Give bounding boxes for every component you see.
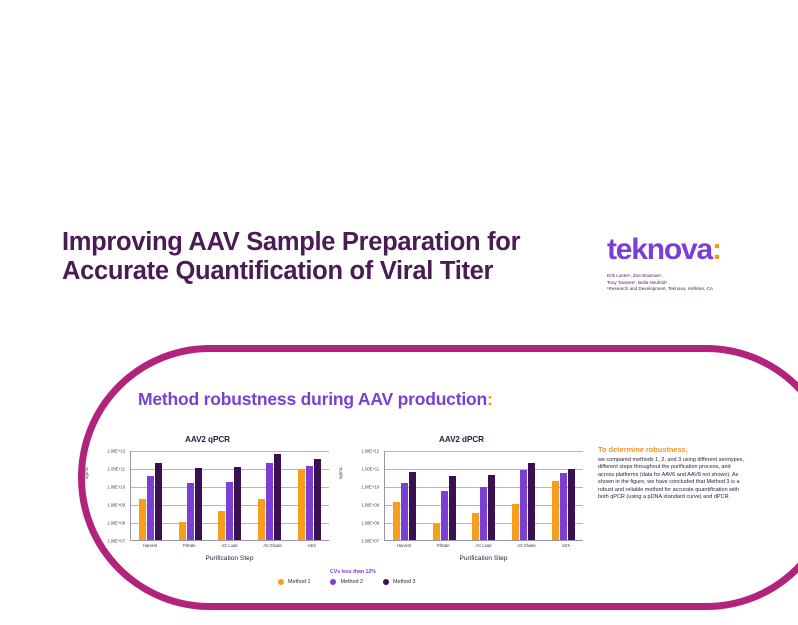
y-axis-ticks: 1.00E+07 1.00E+08 1.00E+09 1.00E+10 1.00… [346, 451, 382, 541]
x-axis-ticks: Harvest Filtrate AC Load AC Eluate AEX [130, 543, 329, 548]
author-list: Erik Lustre¹, Zoe Bowman¹, Tony Tavares¹… [607, 273, 798, 293]
bar [552, 481, 559, 540]
x-tick: AC Load [476, 543, 492, 548]
legend-item-method-1: Method 1 [278, 579, 310, 585]
brand-block: teknova: Erik Lustre¹, Zoe Bowman¹, Tony… [607, 234, 798, 293]
bar [258, 499, 265, 540]
y-tick: 1.00E+10 [361, 485, 379, 490]
legend-swatch-icon [278, 579, 284, 585]
bar [314, 459, 321, 540]
y-tick: 1.00E+07 [107, 539, 125, 544]
chart-title: AAV2 dPCR [340, 435, 583, 444]
y-axis-label: vg/mL [338, 466, 343, 479]
bar-group [393, 451, 416, 540]
bar-group [218, 451, 241, 540]
y-tick: 1.00E+07 [361, 539, 379, 544]
legend-swatch-icon [383, 579, 389, 585]
bar-group [552, 451, 575, 540]
bar [226, 482, 233, 540]
bar [274, 454, 281, 540]
affiliation-line: ¹Research and Development, Teknova, Holl… [607, 286, 798, 293]
bar [306, 466, 313, 540]
bar [441, 491, 448, 540]
bar [472, 513, 479, 540]
y-axis-ticks: 1.00E+07 1.00E+08 1.00E+09 1.00E+10 1.00… [92, 451, 128, 541]
y-tick: 1.00E+11 [108, 467, 125, 472]
x-tick: Filtrate [183, 543, 196, 548]
legend-item-method-3: Method 3 [383, 579, 415, 585]
bar [409, 472, 416, 540]
robustness-heading: To determine robustness, [598, 445, 746, 454]
bar [512, 504, 519, 540]
bar [568, 469, 575, 540]
page-title-line2: Accurate Quantification of Viral Titer [62, 257, 592, 286]
x-axis-ticks: Harvest Filtrate AC Load AC Eluate AEX [384, 543, 583, 548]
bar [393, 502, 400, 540]
bar [449, 476, 456, 540]
bar [266, 463, 273, 540]
y-tick: 1.00E+11 [362, 467, 379, 472]
section-heading-colon-icon: : [487, 389, 493, 409]
bar [187, 483, 194, 540]
page-title: Improving AAV Sample Preparation for Acc… [62, 228, 592, 286]
plot-wrap: vg/mL 1.00E+07 1.00E+08 1.00E+09 1.00E+1… [86, 451, 329, 541]
section-heading: Method robustness during AAV production: [138, 389, 493, 410]
bar [195, 468, 202, 540]
bar-group [512, 451, 535, 540]
plot-area [384, 451, 583, 541]
legend-label: Method 2 [340, 579, 362, 585]
legend-label: Method 1 [288, 579, 310, 585]
bar-group [258, 451, 281, 540]
x-tick: AEX [562, 543, 570, 548]
plot-area [130, 451, 329, 541]
chart-legend: Method 1 Method 2 Method 3 [278, 579, 415, 585]
legend-item-method-2: Method 2 [330, 579, 362, 585]
chart-title: AAV2 qPCR [86, 435, 329, 444]
bar [520, 470, 527, 540]
bar [139, 499, 146, 540]
chart-aav2-qpcr: AAV2 qPCR vg/mL 1.00E+07 1.00E+08 1.00E+… [86, 435, 329, 565]
x-tick: AC Load [222, 543, 238, 548]
legend-swatch-icon [330, 579, 336, 585]
x-axis-label: Purification Step [384, 555, 583, 562]
y-tick: 1.00E+12 [107, 449, 125, 454]
y-tick: 1.00E+09 [107, 503, 125, 508]
x-tick: Harvest [397, 543, 411, 548]
y-tick: 1.00E+08 [361, 521, 379, 526]
cv-note: CVs less than 12% [330, 569, 376, 575]
bar-group [433, 451, 456, 540]
bar [528, 463, 535, 540]
x-tick: AC Eluate [263, 543, 281, 548]
author-line-2: Tony Tavares¹, Bella Neufeld¹ [607, 280, 798, 287]
bar-groups [385, 451, 583, 540]
y-tick: 1.00E+10 [107, 485, 125, 490]
bar-group [179, 451, 202, 540]
y-axis-label: vg/mL [84, 466, 89, 479]
legend-label: Method 3 [393, 579, 415, 585]
bar [488, 475, 495, 540]
bar [433, 524, 440, 540]
page-title-line1: Improving AAV Sample Preparation for [62, 228, 592, 257]
bar [234, 467, 241, 540]
x-tick: AEX [308, 543, 316, 548]
section-heading-text: Method robustness during AAV production [138, 389, 487, 409]
y-tick: 1.00E+09 [361, 503, 379, 508]
plot-wrap: vg/mL 1.00E+07 1.00E+08 1.00E+09 1.00E+1… [340, 451, 583, 541]
x-tick: AC Eluate [517, 543, 535, 548]
bar [298, 469, 305, 540]
bar [480, 487, 487, 540]
bar-groups [131, 451, 329, 540]
bar-group [298, 451, 321, 540]
bar [401, 483, 408, 540]
bar-group [139, 451, 162, 540]
bar [218, 511, 225, 540]
robustness-text-column: To determine robustness, we compared met… [598, 445, 746, 501]
logo-wordmark: teknova [607, 233, 712, 266]
author-line-1: Erik Lustre¹, Zoe Bowman¹, [607, 273, 798, 280]
x-axis-label: Purification Step [130, 555, 329, 562]
poster-header: Improving AAV Sample Preparation for Acc… [62, 228, 762, 308]
y-tick: 1.00E+12 [361, 449, 379, 454]
teknova-logo: teknova: [607, 234, 798, 266]
bar-group [472, 451, 495, 540]
bar [179, 522, 186, 540]
content-panel: Method robustness during AAV production:… [78, 345, 798, 610]
chart-aav2-dpcr: AAV2 dPCR vg/mL 1.00E+07 1.00E+08 1.00E+… [340, 435, 583, 565]
bar [155, 463, 162, 540]
y-tick: 1.00E+08 [107, 521, 125, 526]
bar [560, 473, 567, 540]
x-tick: Harvest [143, 543, 157, 548]
bar [147, 476, 154, 540]
x-tick: Filtrate [437, 543, 450, 548]
robustness-body: we compared methods 1, 2, and 3 using di… [598, 457, 746, 501]
logo-colon-icon: : [712, 233, 721, 266]
